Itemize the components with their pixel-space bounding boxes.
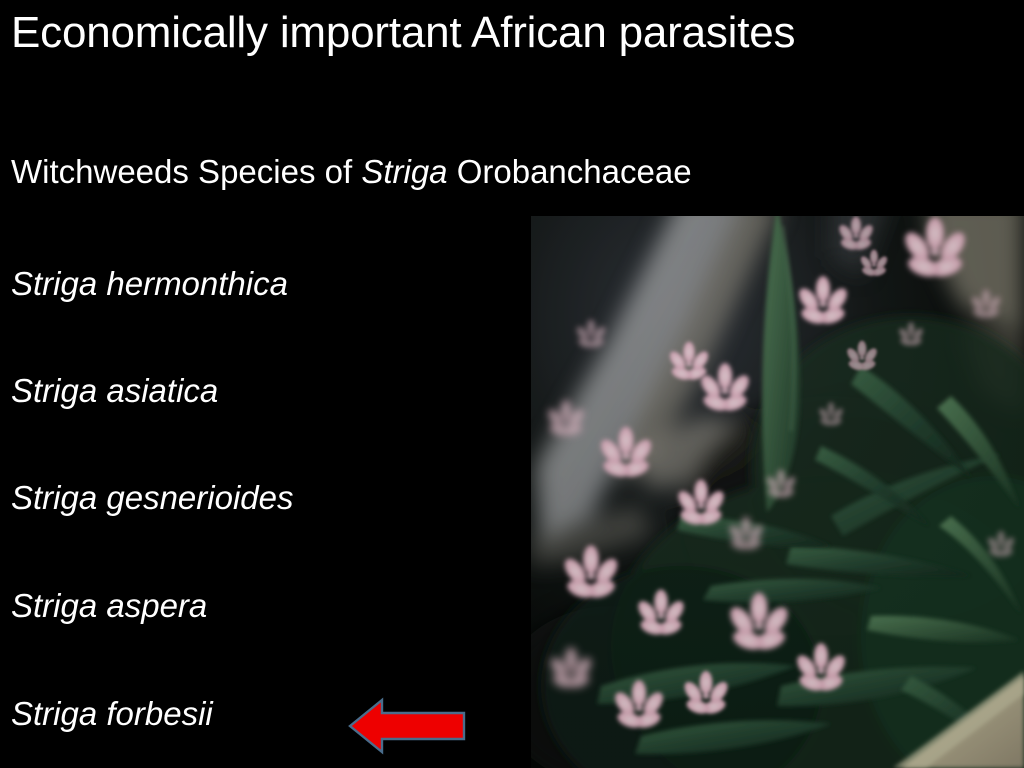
species-item-aspera: Striga aspera [11, 586, 207, 626]
page-title: Economically important African parasites [11, 8, 1011, 59]
arrow-polygon [350, 700, 464, 752]
species-item-gesnerioides: Striga gesnerioides [11, 478, 294, 518]
striga-photograph [531, 216, 1024, 768]
subtitle-genus-italic: Striga [361, 153, 447, 190]
slide-canvas: Economically important African parasites… [0, 0, 1024, 768]
species-item-forbesii: Striga forbesii [11, 694, 213, 734]
subtitle-family: Orobanchaceae [448, 153, 692, 190]
photo-vignette [531, 216, 1024, 768]
left-arrow-icon [348, 697, 466, 755]
photo-illustration [531, 216, 1024, 768]
species-item-hermonthica: Striga hermonthica [11, 264, 288, 304]
species-item-asiatica: Striga asiatica [11, 371, 218, 411]
left-arrow-shape [348, 697, 466, 755]
subtitle-lead: Witchweeds Species of [11, 153, 361, 190]
subtitle: Witchweeds Species of Striga Orobanchace… [11, 152, 692, 192]
